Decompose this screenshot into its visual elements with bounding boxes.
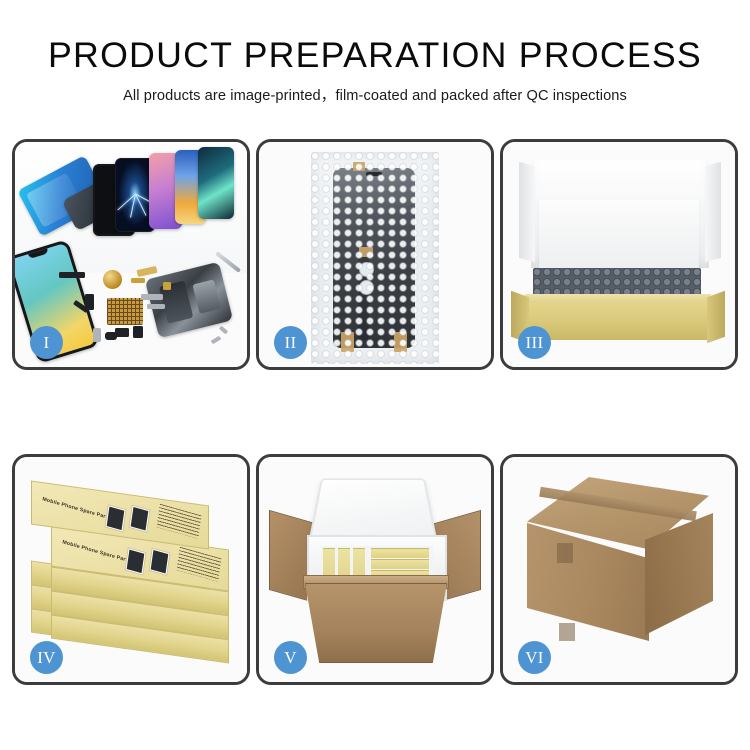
box-label-phone-image bbox=[124, 547, 146, 576]
process-step-panel-5: V bbox=[256, 454, 494, 685]
kraft-box-front-icon bbox=[525, 302, 711, 340]
spare-part-icon bbox=[141, 294, 163, 300]
process-step-panel-3: III bbox=[500, 139, 738, 370]
bubble-texture-icon bbox=[311, 152, 439, 364]
page-title: PRODUCT PREPARATION PROCESS bbox=[0, 38, 750, 75]
process-step-panel-6: VI bbox=[500, 454, 738, 685]
spare-part-icon bbox=[163, 282, 171, 290]
carton-flap-mark-icon bbox=[557, 543, 573, 563]
spare-part-icon bbox=[59, 272, 85, 278]
retail-box-icon bbox=[371, 548, 429, 558]
page-subtitle: All products are image-printed，film-coat… bbox=[0, 84, 750, 105]
step-badge-3: III bbox=[518, 326, 551, 359]
box-stack-icon: Mobile Phone Spare Parts Mobile Phone Sp… bbox=[23, 475, 237, 667]
spare-part-icon bbox=[115, 328, 129, 337]
screw-icon bbox=[219, 326, 228, 335]
process-step-panel-1: I bbox=[12, 139, 250, 370]
process-step-panel-4: Mobile Phone Spare Parts Mobile Phone Sp… bbox=[12, 454, 250, 685]
process-step-grid: I II bbox=[12, 139, 738, 685]
spare-part-icon bbox=[105, 332, 117, 340]
box-label-phone-image bbox=[128, 504, 150, 533]
teal-gradient-phone-icon bbox=[198, 147, 234, 219]
box-label-phone-image bbox=[104, 504, 126, 533]
step-badge-4: IV bbox=[30, 641, 63, 674]
retail-box-icon bbox=[371, 559, 429, 569]
carton-flap-mark-icon bbox=[559, 623, 575, 641]
spare-part-icon bbox=[131, 278, 145, 283]
speaker-module-icon bbox=[103, 270, 122, 289]
screw-icon bbox=[211, 336, 222, 344]
page-header: PRODUCT PREPARATION PROCESS All products… bbox=[0, 0, 750, 105]
spare-part-icon bbox=[147, 304, 165, 309]
step-badge-6: VI bbox=[518, 641, 551, 674]
carton-body-icon bbox=[305, 583, 447, 663]
step-badge-2: II bbox=[274, 326, 307, 359]
step-badge-5: V bbox=[274, 641, 307, 674]
foam-sheet-icon bbox=[539, 200, 699, 274]
step-badge-1: I bbox=[30, 326, 63, 359]
bubble-wrap-bag-icon bbox=[311, 152, 439, 364]
logic-board-icon bbox=[107, 298, 143, 325]
spare-part-icon bbox=[93, 328, 101, 342]
box-label-phone-image bbox=[148, 547, 170, 576]
phone-notch-icon bbox=[28, 248, 49, 259]
spare-part-icon bbox=[133, 326, 143, 338]
process-step-panel-2: II bbox=[256, 139, 494, 370]
